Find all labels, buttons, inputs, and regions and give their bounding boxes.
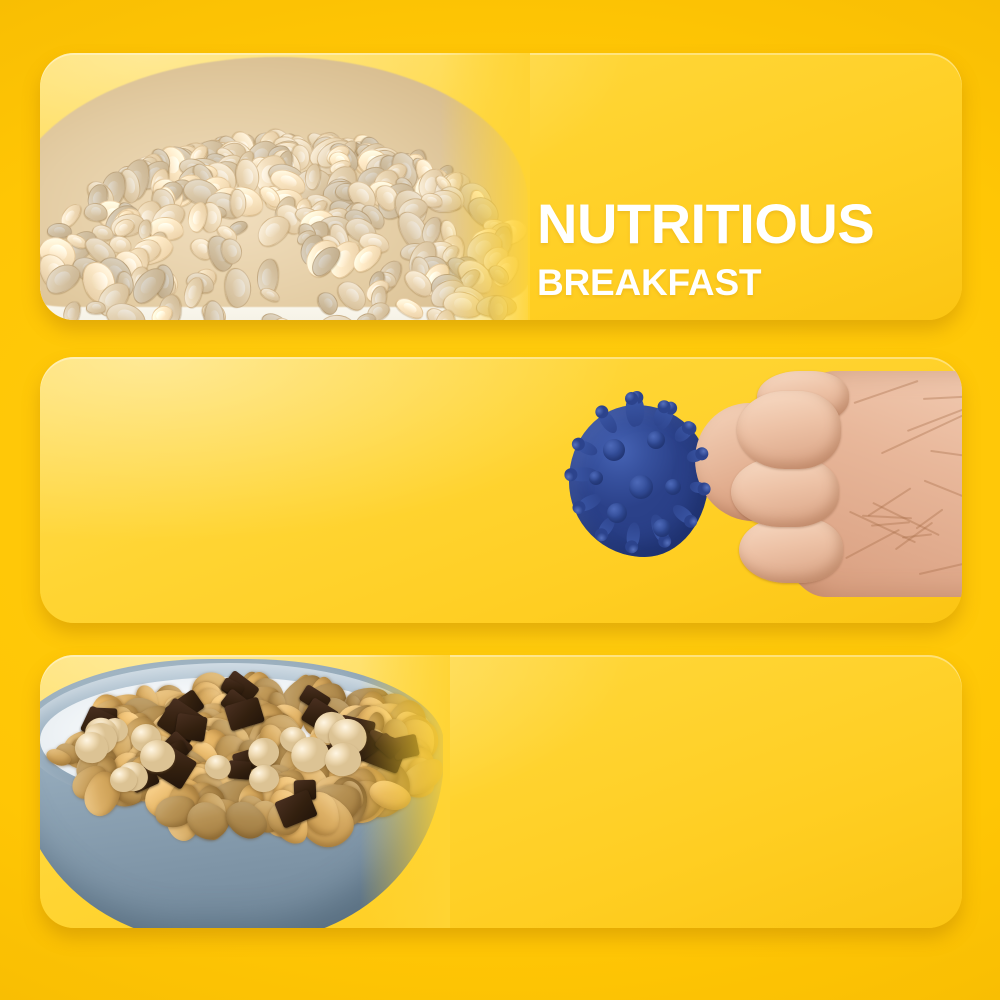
benefit-card-nutritious[interactable]: NUTRITIOUS BREAKFAST [40, 53, 962, 320]
card-subtitle: BREAKFAST [537, 264, 874, 301]
oat-flake [85, 301, 106, 314]
knuckle [737, 391, 841, 469]
oat-flake [488, 295, 508, 320]
chocolate-chunk [227, 760, 251, 780]
fist-icon [691, 357, 962, 613]
virus-bump [653, 519, 671, 537]
virus-bump [589, 471, 603, 485]
virus-bump [647, 431, 665, 449]
benefit-card-immune[interactable]: ENHANCE IMMUNE SYSTEM [40, 357, 962, 623]
virus-bump [629, 475, 653, 499]
benefits-poster: NUTRITIOUS BREAKFAST ENHANCE IMMUNE SYST… [0, 0, 1000, 1000]
granola-bowl-image [40, 655, 443, 928]
virus-bump [603, 439, 625, 461]
ceramic-bowl [40, 659, 443, 928]
card-title: NUTRITIOUS [537, 196, 874, 252]
rolled-oats-pile-image [40, 53, 528, 320]
hazelnut [110, 767, 137, 792]
virus-bump [607, 503, 627, 523]
fist-punching-virus-image [495, 357, 962, 623]
benefit-card-convenient[interactable]: CONVENIENT DELICIOUS, QUICK [40, 655, 962, 928]
virus-bump [665, 479, 681, 495]
card-text-nutritious: NUTRITIOUS BREAKFAST [537, 196, 874, 301]
